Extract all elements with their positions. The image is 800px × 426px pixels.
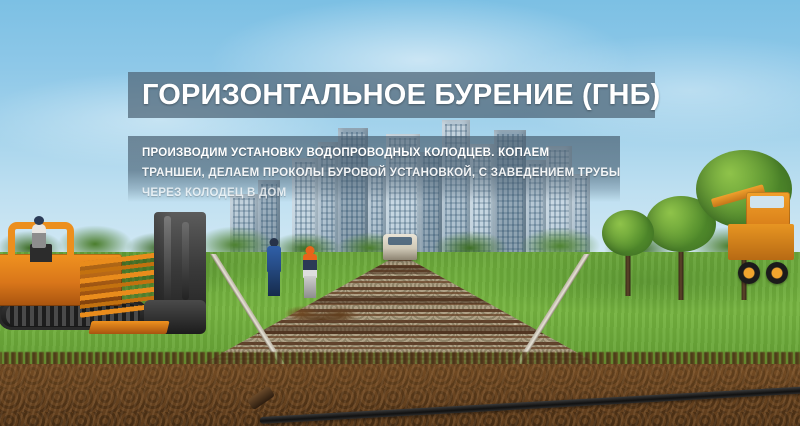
crane-cabin	[746, 192, 790, 226]
rig-blade	[88, 321, 169, 334]
rig-operator	[32, 224, 46, 248]
worker-torso	[267, 246, 281, 272]
tree-trunk	[679, 244, 684, 300]
crane-wheel	[766, 262, 788, 284]
promo-banner: ГОРИЗОНТАЛЬНОЕ БУРЕНИЕ (ГНБ) ПРОИЗВОДИМ …	[0, 0, 800, 426]
subtitle-line-1: ПРОИЗВОДИМ УСТАНОВКУ ВОДОПРОВОДНЫХ КОЛОД…	[142, 143, 620, 163]
train	[383, 234, 417, 260]
crane-truck	[718, 186, 794, 296]
title-banner-box: ГОРИЗОНТАЛЬНОЕ БУРЕНИЕ (ГНБ)	[128, 72, 655, 118]
crane-wheel	[738, 262, 760, 284]
worker-torso	[303, 254, 317, 278]
dirt-pile	[278, 292, 364, 320]
crane-body	[728, 224, 794, 260]
subtitle-line-3: ЧЕРЕЗ КОЛОДЕЦ В ДОМ	[142, 183, 620, 203]
worker-blue-uniform	[266, 238, 282, 296]
drilling-rig	[0, 196, 234, 336]
subtitle-line-2: ТРАНШЕИ, ДЕЛАЕМ ПРОКОЛЫ БУРОВОЙ УСТАНОВК…	[142, 163, 620, 183]
worker-orange-vest	[302, 246, 318, 298]
tree-canopy	[602, 210, 654, 256]
page-title: ГОРИЗОНТАЛЬНОЕ БУРЕНИЕ (ГНБ)	[128, 79, 661, 112]
tree	[602, 210, 654, 296]
tree-trunk	[626, 252, 631, 296]
subtitle-banner-box: ПРОИЗВОДИМ УСТАНОВКУ ВОДОПРОВОДНЫХ КОЛОД…	[128, 136, 620, 202]
